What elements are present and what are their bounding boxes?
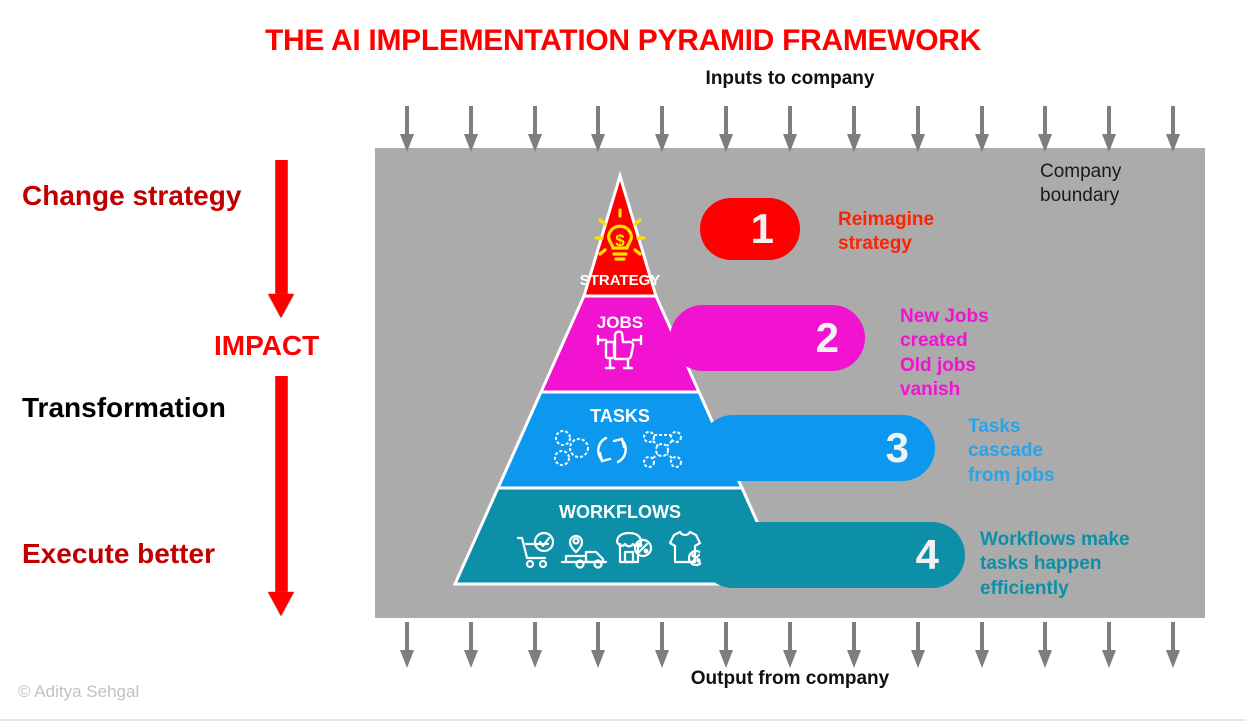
pill-number-4[interactable]: 4 [700,522,965,588]
output-arrow-icon [781,622,799,668]
output-from-company-label: Output from company [375,668,1205,690]
output-arrow-icon [398,622,416,668]
pyramid-label-tasks: TASKS [590,406,650,426]
input-arrow-icon [398,106,416,152]
output-arrows-row [375,622,1205,672]
input-arrow-icon [781,106,799,152]
annotation-tasks: Tasks cascade from jobs [968,415,1118,488]
inputs-to-company-label: Inputs to company [375,68,1205,90]
input-arrow-icon [653,106,671,152]
annotation-jobs: New Jobs created Old jobs vanish [900,305,1050,402]
pyramid-label-jobs: JOBS [597,313,643,332]
input-arrow-icon [845,106,863,152]
input-arrow-icon [589,106,607,152]
output-arrow-icon [845,622,863,668]
pyramid-label-workflows: WORKFLOWS [559,502,681,522]
label-change-strategy: Change strategy [22,180,241,212]
input-arrow-icon [973,106,991,152]
output-arrow-icon [973,622,991,668]
pyramid-label-strategy: STRATEGY [580,272,661,289]
pill-number-1[interactable]: 1 [700,198,800,260]
annotation-workflows: Workflows make tasks happen efficiently [980,528,1200,601]
copyright-credit: © Aditya Sehgal [18,682,139,702]
svg-text:$: $ [615,231,625,250]
output-arrow-icon [1036,622,1054,668]
output-arrow-icon [909,622,927,668]
output-arrow-icon [717,622,735,668]
bottom-divider [0,719,1246,721]
output-arrow-icon [589,622,607,668]
pill-number-2[interactable]: 2 [670,305,865,371]
output-arrow-icon [462,622,480,668]
company-boundary-label: Company boundary [1040,160,1180,208]
output-arrow-icon [653,622,671,668]
input-arrow-icon [1100,106,1118,152]
pill-number-3[interactable]: 3 [700,415,935,481]
input-arrow-icon [1164,106,1182,152]
output-arrow-icon [1164,622,1182,668]
input-arrow-icon [1036,106,1054,152]
input-arrow-icon [909,106,927,152]
output-arrow-icon [526,622,544,668]
diagram-canvas: THE AI IMPLEMENTATION PYRAMID FRAMEWORK [0,0,1246,726]
red-down-arrow-icon [268,160,294,318]
input-arrow-icon [462,106,480,152]
output-arrow-icon [1100,622,1118,668]
label-transformation: Transformation [22,392,226,424]
label-impact: IMPACT [214,330,319,362]
input-arrows-row [375,106,1205,156]
label-execute-better: Execute better [22,538,215,570]
annotation-strategy: Reimagine strategy [838,208,988,257]
red-down-arrow-icon [268,376,294,616]
input-arrow-icon [717,106,735,152]
input-arrow-icon [526,106,544,152]
page-title: THE AI IMPLEMENTATION PYRAMID FRAMEWORK [0,24,1246,58]
